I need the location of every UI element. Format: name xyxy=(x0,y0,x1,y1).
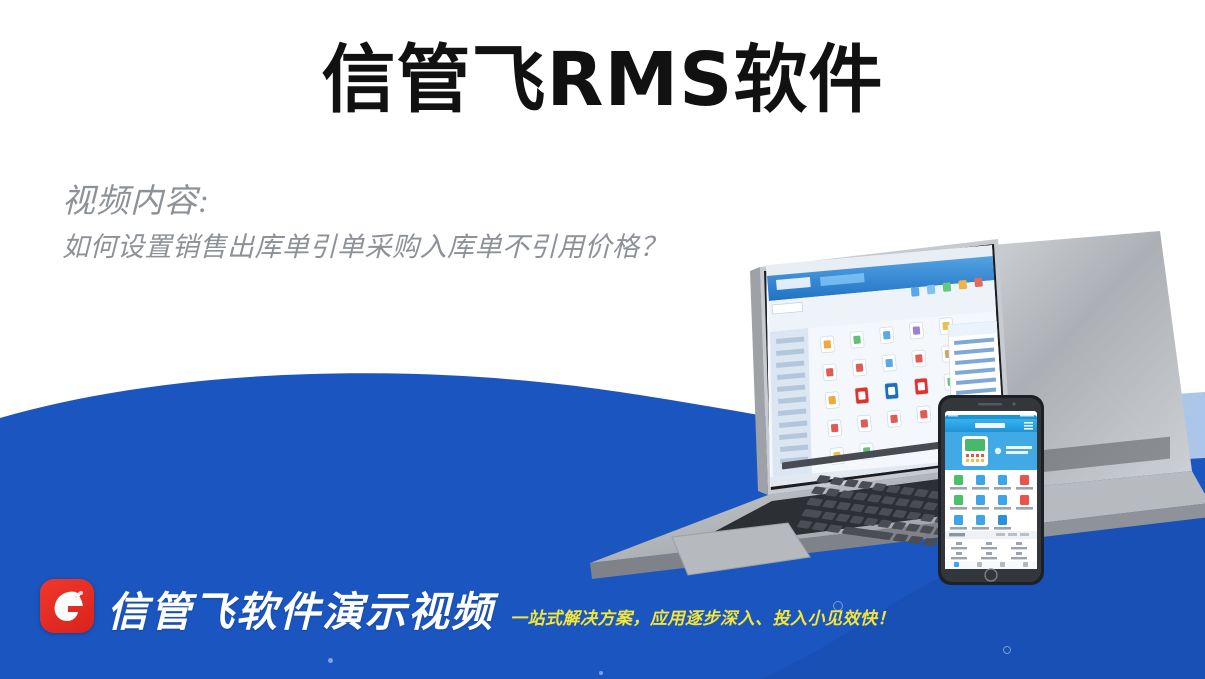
brand-logo-icon xyxy=(40,579,94,633)
decor-dot xyxy=(1003,646,1011,654)
smartphone xyxy=(938,395,1044,585)
page-title: 信管飞RMS软件 xyxy=(0,42,1205,120)
subtitle-block: 视频内容: 如何设置销售出库单引单采购入库单不引用价格？ xyxy=(62,182,667,268)
brand-name: 信管飞软件演示视频 xyxy=(107,588,494,636)
device-illustration xyxy=(520,225,1205,605)
slide-canvas: 信管飞RMS软件 视频内容: 如何设置销售出库单引单采购入库单不引用价格？ xyxy=(0,0,1205,679)
subtitle-label: 视频内容: xyxy=(62,182,667,223)
subtitle-text: 如何设置销售出库单引单采购入库单不引用价格？ xyxy=(62,227,667,268)
decor-dot xyxy=(328,658,333,663)
decor-dot xyxy=(599,671,603,675)
brand-tagline: 一站式解决方案，应用逐步深入、投入小见效快！ xyxy=(510,604,895,633)
brand-bar: 信管飞软件演示视频 一站式解决方案，应用逐步深入、投入小见效快！ xyxy=(40,579,895,633)
